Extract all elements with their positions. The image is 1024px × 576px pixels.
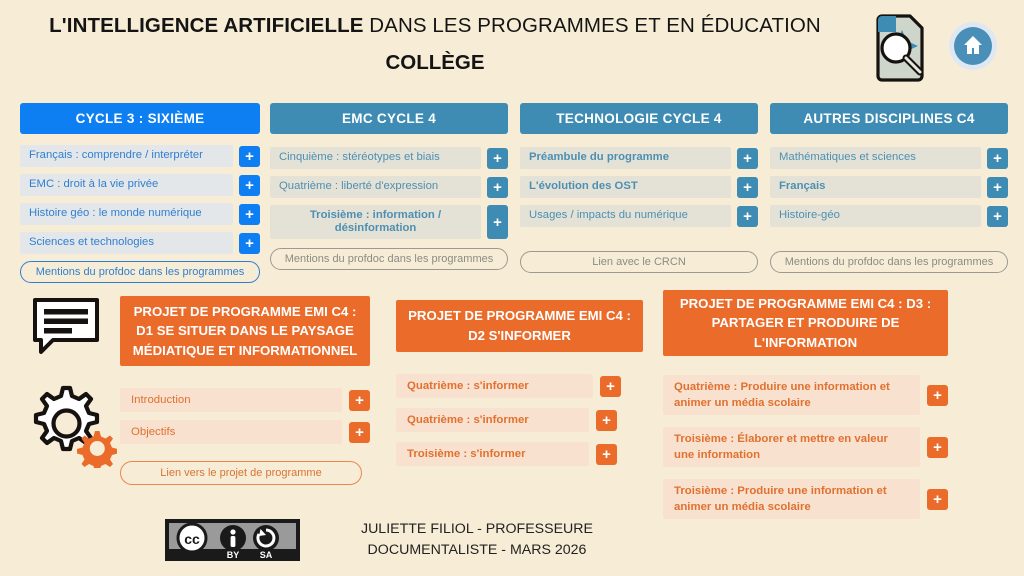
- card-link-button[interactable]: Mentions du profdoc dans les programmes: [270, 248, 508, 270]
- item-label[interactable]: Troisième : Élaborer et mettre en valeur…: [663, 427, 920, 467]
- item-label[interactable]: Quatrième : s'informer: [396, 374, 593, 398]
- item-label[interactable]: Troisième : information / désinformation: [270, 205, 481, 239]
- card-header: AUTRES DISCIPLINES C4: [770, 103, 1008, 134]
- card-link-button[interactable]: Mentions du profdoc dans les programmes: [770, 251, 1008, 273]
- list-item: Quatrième : liberté d'expression +: [270, 176, 508, 198]
- project-banner: PROJET DE PROGRAMME EMI C4 : D3 : PARTAG…: [663, 290, 948, 356]
- expand-plus-icon[interactable]: +: [239, 233, 260, 254]
- expand-plus-icon[interactable]: +: [737, 206, 758, 227]
- expand-plus-icon[interactable]: +: [239, 204, 260, 225]
- expand-plus-icon[interactable]: +: [487, 205, 508, 239]
- card-emc-cycle-4: EMC CYCLE 4 Cinquième : stéréotypes et b…: [270, 103, 508, 270]
- card-header: TECHNOLOGIE CYCLE 4: [520, 103, 758, 134]
- item-label[interactable]: L'évolution des OST: [520, 176, 731, 198]
- card-header: EMC CYCLE 4: [270, 103, 508, 134]
- list-item: Préambule du programme +: [520, 147, 758, 169]
- list-item: Cinquième : stéréotypes et biais +: [270, 147, 508, 169]
- expand-plus-icon[interactable]: +: [239, 146, 260, 167]
- expand-plus-icon[interactable]: +: [239, 175, 260, 196]
- title-line-1: L'INTELLIGENCE ARTIFICIELLE DANS LES PRO…: [40, 14, 830, 38]
- card-header: CYCLE 3 : SIXIÈME: [20, 103, 260, 134]
- card-cycle3-sixieme: CYCLE 3 : SIXIÈME Français : comprendre …: [20, 103, 260, 283]
- credit-line-1: JULIETTE FILIOL - PROFESSEURE: [312, 519, 642, 540]
- list-item: Introduction +: [120, 388, 370, 412]
- expand-plus-icon[interactable]: +: [987, 206, 1008, 227]
- list-item: Mathématiques et sciences +: [770, 147, 1008, 169]
- project-emi-c4-d1: PROJET DE PROGRAMME EMI C4 : D1 SE SITUE…: [120, 296, 370, 485]
- list-item: Objectifs +: [120, 420, 370, 444]
- item-label[interactable]: Troisième : s'informer: [396, 442, 589, 466]
- expand-plus-icon[interactable]: +: [927, 385, 948, 406]
- creative-commons-by-sa-badge: cc BY SA: [165, 519, 300, 561]
- expand-plus-icon[interactable]: +: [349, 390, 370, 411]
- project-link-button[interactable]: Lien vers le projet de programme: [120, 461, 362, 485]
- project-emi-c4-d2: PROJET DE PROGRAMME EMI C4 : D2 S'INFORM…: [396, 300, 643, 466]
- list-item: Français : comprendre / interpréter +: [20, 145, 260, 167]
- card-items: Cinquième : stéréotypes et biais + Quatr…: [270, 147, 508, 239]
- item-label[interactable]: Quatrième : Produire une information et …: [663, 375, 920, 415]
- credit-line-2: DOCUMENTALISTE - MARS 2026: [312, 540, 642, 561]
- item-label[interactable]: Français : comprendre / interpréter: [20, 145, 233, 167]
- card-technologie-cycle-4: TECHNOLOGIE CYCLE 4 Préambule du program…: [520, 103, 758, 273]
- speech-bubble-lines-icon: [30, 296, 102, 356]
- card-items: Français : comprendre / interpréter + EM…: [20, 145, 260, 254]
- item-label[interactable]: Introduction: [120, 388, 342, 412]
- list-item: Troisième : s'informer +: [396, 442, 643, 466]
- credits: JULIETTE FILIOL - PROFESSEURE DOCUMENTAL…: [312, 519, 642, 561]
- card-items: Préambule du programme + L'évolution des…: [520, 147, 758, 227]
- expand-plus-icon[interactable]: +: [987, 177, 1008, 198]
- svg-text:BY: BY: [227, 550, 240, 560]
- card-items: Mathématiques et sciences + Français + H…: [770, 147, 1008, 227]
- list-item: EMC : droit à la vie privée +: [20, 174, 260, 196]
- item-label[interactable]: Quatrième : liberté d'expression: [270, 176, 481, 198]
- item-label[interactable]: Objectifs: [120, 420, 342, 444]
- item-label[interactable]: Préambule du programme: [520, 147, 731, 169]
- project-items: Quatrième : s'informer + Quatrième : s'i…: [396, 374, 643, 466]
- item-label[interactable]: Cinquième : stéréotypes et biais: [270, 147, 481, 169]
- expand-plus-icon[interactable]: +: [737, 177, 758, 198]
- slide-header: L'INTELLIGENCE ARTIFICIELLE DANS LES PRO…: [0, 0, 1024, 92]
- list-item: Troisième : Produire une information et …: [663, 479, 948, 519]
- svg-text:SA: SA: [260, 550, 273, 560]
- item-label[interactable]: Troisième : Produire une information et …: [663, 479, 920, 519]
- card-link-button[interactable]: Lien avec le CRCN: [520, 251, 758, 273]
- home-button[interactable]: [948, 21, 998, 71]
- item-label[interactable]: Quatrième : s'informer: [396, 408, 589, 432]
- item-label[interactable]: Sciences et technologies: [20, 232, 233, 254]
- list-item: Quatrième : s'informer +: [396, 374, 643, 398]
- list-item: Usages / impacts du numérique +: [520, 205, 758, 227]
- list-item: Troisième : information / désinformation…: [270, 205, 508, 239]
- expand-plus-icon[interactable]: +: [737, 148, 758, 169]
- item-label[interactable]: Histoire-géo: [770, 205, 981, 227]
- card-autres-disciplines-c4: AUTRES DISCIPLINES C4 Mathématiques et s…: [770, 103, 1008, 273]
- list-item: Quatrième : s'informer +: [396, 408, 643, 432]
- item-label[interactable]: EMC : droit à la vie privée: [20, 174, 233, 196]
- title-emphasis: L'INTELLIGENCE ARTIFICIELLE: [49, 14, 363, 37]
- page-title: L'INTELLIGENCE ARTIFICIELLE DANS LES PRO…: [40, 14, 830, 75]
- list-item: Sciences et technologies +: [20, 232, 260, 254]
- expand-plus-icon[interactable]: +: [596, 444, 617, 465]
- title-remainder: DANS LES PROGRAMMES ET EN ÉDUCATION: [363, 14, 820, 37]
- list-item: Histoire géo : le monde numérique +: [20, 203, 260, 225]
- expand-plus-icon[interactable]: +: [349, 422, 370, 443]
- svg-text:cc: cc: [184, 531, 200, 547]
- title-subtitle: COLLÈGE: [40, 51, 830, 75]
- document-search-ai-icon: [862, 8, 938, 84]
- expand-plus-icon[interactable]: +: [487, 148, 508, 169]
- list-item: Histoire-géo +: [770, 205, 1008, 227]
- project-items: Quatrième : Produire une information et …: [663, 375, 948, 519]
- expand-plus-icon[interactable]: +: [487, 177, 508, 198]
- expand-plus-icon[interactable]: +: [927, 437, 948, 458]
- expand-plus-icon[interactable]: +: [596, 410, 617, 431]
- list-item: Français +: [770, 176, 1008, 198]
- project-banner: PROJET DE PROGRAMME EMI C4 : D1 SE SITUE…: [120, 296, 370, 366]
- project-banner: PROJET DE PROGRAMME EMI C4 : D2 S'INFORM…: [396, 300, 643, 352]
- expand-plus-icon[interactable]: +: [927, 489, 948, 510]
- expand-plus-icon[interactable]: +: [987, 148, 1008, 169]
- expand-plus-icon[interactable]: +: [600, 376, 621, 397]
- card-link-button[interactable]: Mentions du profdoc dans les programmes: [20, 261, 260, 283]
- item-label[interactable]: Français: [770, 176, 981, 198]
- project-emi-c4-d3: PROJET DE PROGRAMME EMI C4 : D3 : PARTAG…: [663, 290, 948, 519]
- list-item: L'évolution des OST +: [520, 176, 758, 198]
- item-label[interactable]: Mathématiques et sciences: [770, 147, 981, 169]
- item-label[interactable]: Histoire géo : le monde numérique: [20, 203, 233, 225]
- project-items: Introduction + Objectifs +: [120, 388, 370, 444]
- list-item: Troisième : Élaborer et mettre en valeur…: [663, 427, 948, 467]
- list-item: Quatrième : Produire une information et …: [663, 375, 948, 415]
- slide-root: L'INTELLIGENCE ARTIFICIELLE DANS LES PRO…: [0, 0, 1024, 576]
- gears-icon: [25, 382, 117, 468]
- item-label[interactable]: Usages / impacts du numérique: [520, 205, 731, 227]
